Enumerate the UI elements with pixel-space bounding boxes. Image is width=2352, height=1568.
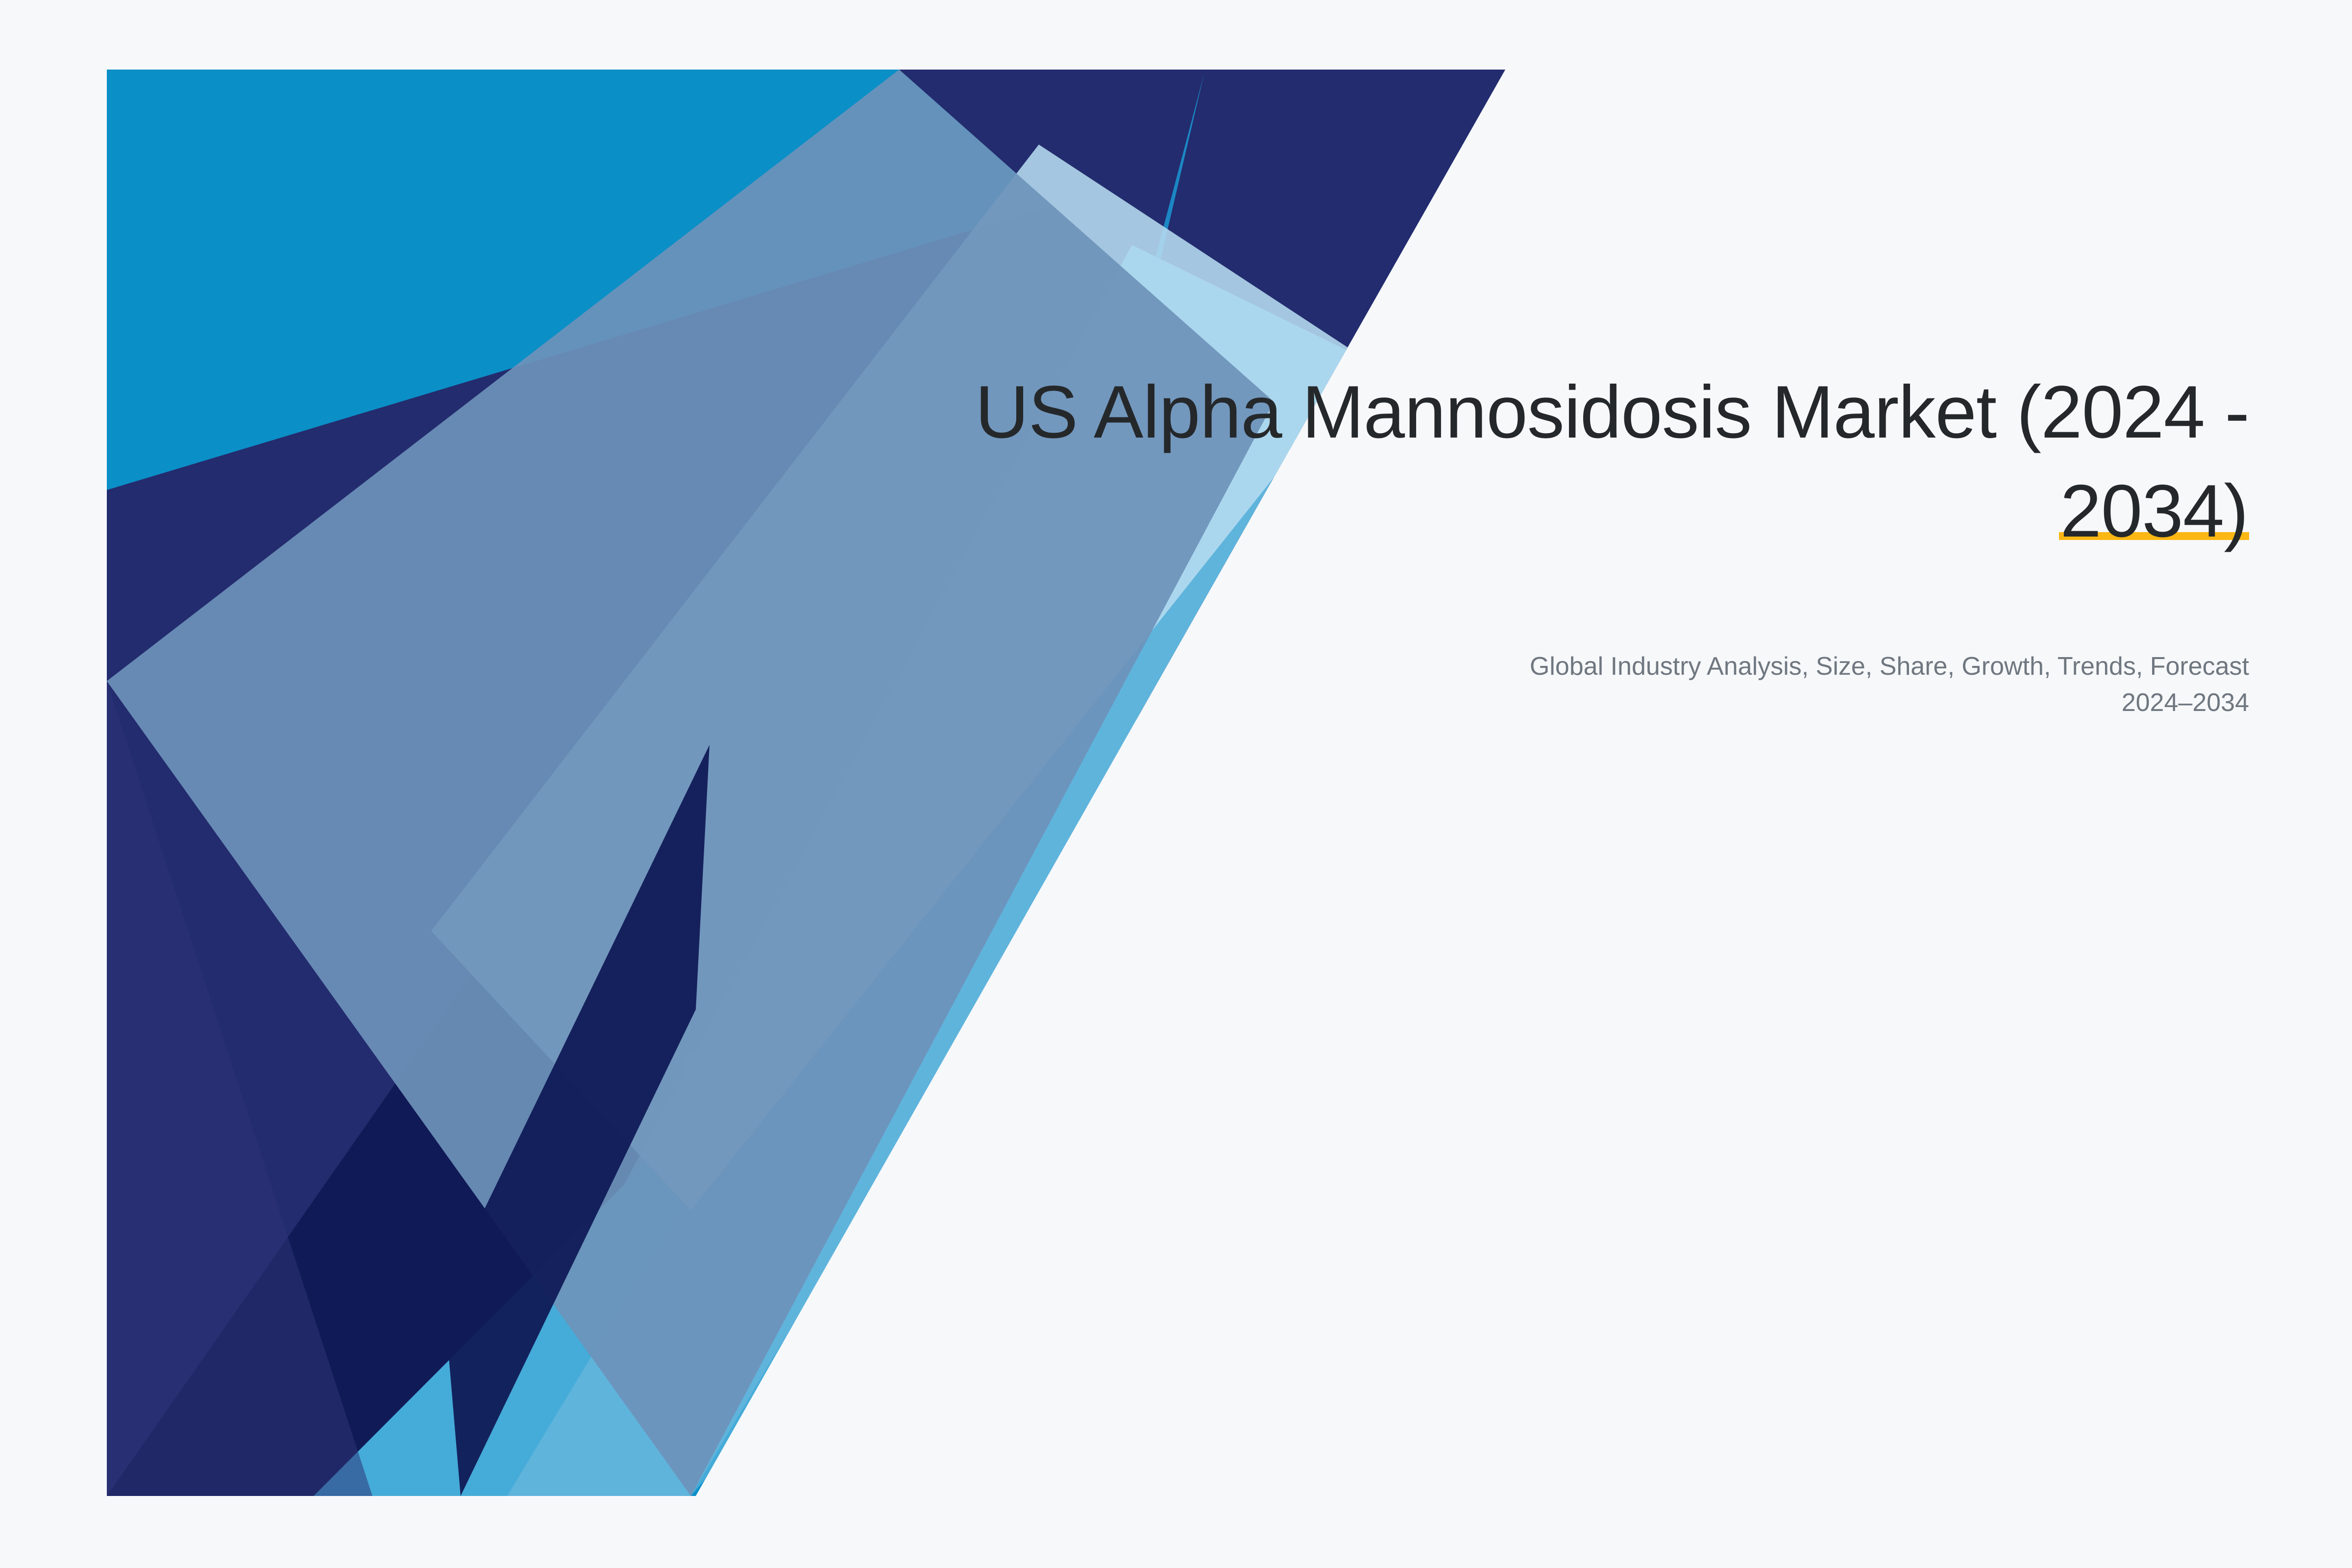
report-cover: US Alpha Mannosidosis Market (2024 - 203…	[0, 0, 2352, 1568]
shape-navy-thin-spike	[443, 745, 710, 1496]
shape-azure-sliver	[107, 681, 372, 1496]
shape-deep-navy-wedge	[412, 661, 706, 1496]
shape-deep-navy-bottom	[107, 647, 701, 1496]
shape-navy-band	[107, 70, 1505, 1496]
shape-sky-left	[314, 1004, 804, 1496]
title-main: US Alpha Mannosidosis Market (2024 -	[975, 370, 2249, 454]
page-title: US Alpha Mannosidosis Market (2024 - 203…	[804, 363, 2249, 561]
cover-artwork	[0, 0, 2352, 1568]
cover-text-block: US Alpha Mannosidosis Market (2024 - 203…	[804, 363, 2249, 721]
shape-slate-quad	[107, 70, 1274, 1496]
shape-azure-base	[107, 70, 1505, 1496]
shape-navy-top-right	[899, 70, 1505, 402]
cover-subtitle: Global Industry Analysis, Size, Share, G…	[1514, 649, 2249, 721]
title-highlight: 2034)	[2059, 469, 2249, 553]
